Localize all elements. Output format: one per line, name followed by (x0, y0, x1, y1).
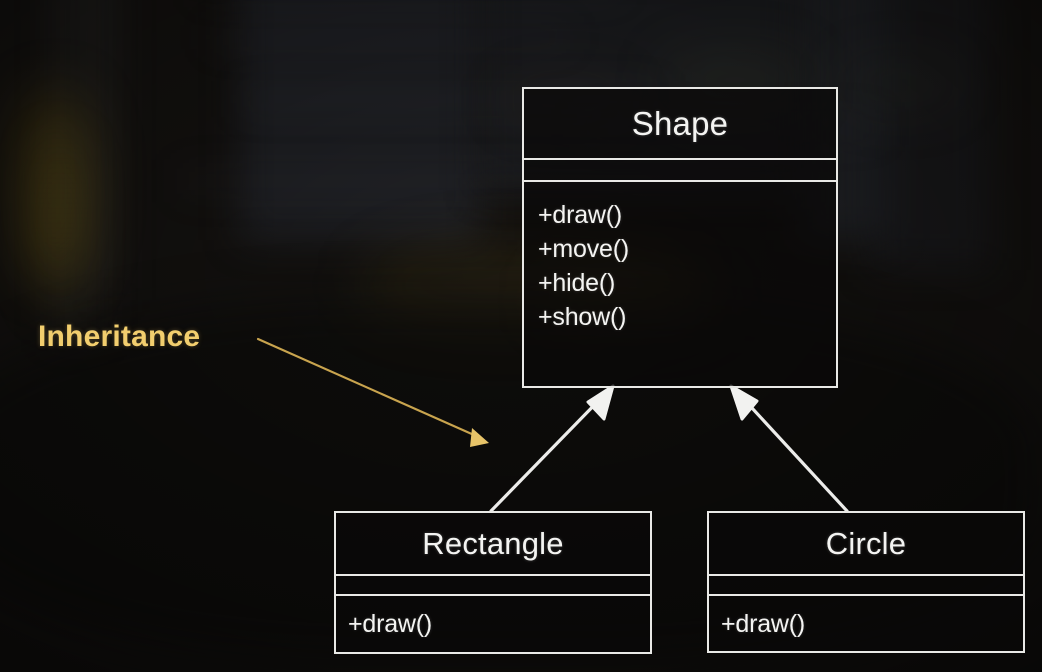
uml-class-rectangle[interactable]: Rectangle +draw() (334, 511, 652, 654)
uml-class-circle[interactable]: Circle +draw() (707, 511, 1025, 653)
uml-class-rectangle-name: Rectangle (336, 513, 650, 574)
annotation-label: Inheritance (38, 320, 200, 354)
uml-operation: +draw() (538, 198, 836, 232)
uml-operation: +draw() (721, 608, 1023, 640)
uml-class-rectangle-attributes (336, 576, 650, 594)
uml-class-rectangle-operations: +draw() (336, 596, 650, 640)
uml-operation: +show() (538, 300, 836, 334)
uml-class-shape[interactable]: Shape +draw() +move() +hide() +show() (522, 87, 838, 388)
uml-operation: +draw() (348, 608, 650, 640)
uml-class-shape-operations: +draw() +move() +hide() +show() (524, 182, 836, 334)
uml-class-circle-operations: +draw() (709, 596, 1023, 640)
uml-class-circle-name: Circle (709, 513, 1023, 574)
diagram-canvas: Shape +draw() +move() +hide() +show() Re… (0, 0, 1042, 672)
uml-operation: +hide() (538, 266, 836, 300)
uml-class-shape-name: Shape (524, 89, 836, 158)
uml-class-circle-attributes (709, 576, 1023, 594)
uml-operation: +move() (538, 232, 836, 266)
uml-class-shape-attributes (524, 160, 836, 180)
